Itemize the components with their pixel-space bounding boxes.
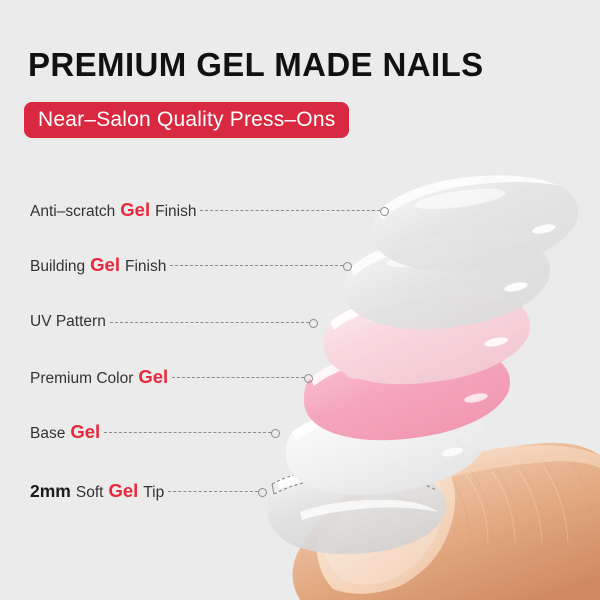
layer-label-text: 2mmSoftGelTip bbox=[0, 482, 164, 501]
label-part-anti-scratch: Anti–scratch bbox=[30, 204, 115, 220]
layer-soft-gel-tip bbox=[268, 466, 447, 554]
layer-label-text: UV Pattern bbox=[0, 314, 106, 330]
layer-label-row-anti-scratch-gel-finish: Anti–scratchGelFinish bbox=[0, 197, 389, 223]
leader-endpoint-marker bbox=[343, 262, 352, 271]
leader-line bbox=[104, 432, 271, 434]
label-part-gel: Gel bbox=[108, 482, 138, 501]
leader-endpoint-marker bbox=[271, 429, 280, 438]
page-title: PREMIUM GEL MADE NAILS bbox=[28, 48, 484, 81]
label-part-gel: Gel bbox=[138, 368, 168, 387]
layer-label-row-2mm-soft-gel-tip: 2mmSoftGelTip bbox=[0, 478, 267, 504]
subtitle-badge: Near–Salon Quality Press–Ons bbox=[24, 102, 349, 138]
label-part-tip: Tip bbox=[143, 485, 164, 501]
label-part-gel: Gel bbox=[70, 423, 100, 442]
label-part-base: Base bbox=[30, 426, 65, 442]
leader-endpoint-marker bbox=[309, 319, 318, 328]
infographic-canvas: PREMIUM GEL MADE NAILS Near–Salon Qualit… bbox=[0, 0, 600, 600]
nail-layer-stack-illustration bbox=[0, 0, 600, 600]
label-part-premium-color: Premium Color bbox=[30, 371, 133, 387]
layer-label-row-premium-color-gel: Premium ColorGel bbox=[0, 364, 313, 390]
layer-label-text: Anti–scratchGelFinish bbox=[0, 201, 196, 220]
label-part-finish: Finish bbox=[155, 204, 196, 220]
leader-endpoint-marker bbox=[304, 374, 313, 383]
layer-building-gel-finish bbox=[344, 233, 550, 329]
label-part-gel: Gel bbox=[90, 256, 120, 275]
leader-line bbox=[172, 377, 304, 379]
layer-label-text: BuildingGelFinish bbox=[0, 256, 166, 275]
layer-premium-color-gel bbox=[304, 345, 510, 440]
leader-line bbox=[170, 265, 343, 267]
layer-label-row-uv-pattern: UV Pattern bbox=[0, 309, 318, 335]
label-part-uv-pattern: UV Pattern bbox=[30, 314, 106, 330]
layer-label-row-base-gel: BaseGel bbox=[0, 419, 280, 445]
leader-endpoint-marker bbox=[380, 207, 389, 216]
layer-label-text: BaseGel bbox=[0, 423, 100, 442]
finger-illustration bbox=[293, 443, 600, 600]
label-part-soft: Soft bbox=[76, 485, 104, 501]
leader-line bbox=[110, 322, 309, 324]
layer-uv-pattern bbox=[324, 289, 530, 384]
layer-label-row-building-gel-finish: BuildingGelFinish bbox=[0, 252, 352, 278]
layer-label-text: Premium ColorGel bbox=[0, 368, 168, 387]
layer-base-gel bbox=[286, 401, 486, 494]
leader-line bbox=[200, 210, 380, 212]
label-part-2mm: 2mm bbox=[30, 483, 71, 501]
leader-line bbox=[168, 491, 258, 493]
label-part-finish: Finish bbox=[125, 259, 166, 275]
label-part-gel: Gel bbox=[120, 201, 150, 220]
layer-anti-scratch-gel-finish bbox=[372, 175, 578, 271]
label-part-building: Building bbox=[30, 259, 85, 275]
leader-endpoint-marker bbox=[258, 488, 267, 497]
